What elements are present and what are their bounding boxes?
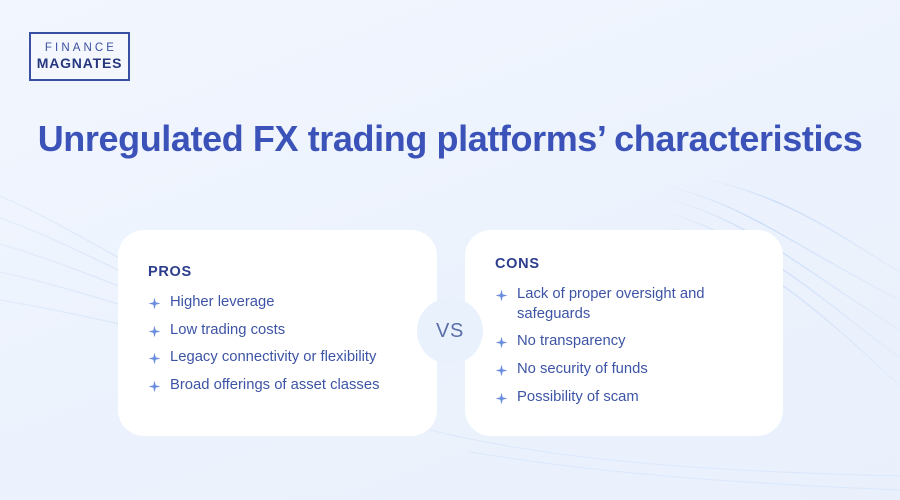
sparkle-icon (148, 325, 161, 338)
finance-magnates-logo: FINANCE MAGNATES (29, 32, 130, 81)
list-item: Possibility of scam (495, 388, 753, 408)
sparkle-icon (495, 336, 508, 349)
list-item: No transparency (495, 332, 753, 352)
list-item: Higher leverage (148, 293, 407, 313)
pros-card: PROS Higher leverage Low trading costs (118, 230, 437, 436)
sparkle-icon (495, 364, 508, 377)
sparkle-icon (148, 297, 161, 310)
sparkle-icon (148, 352, 161, 365)
list-item-label: No transparency (517, 332, 626, 352)
list-item: Lack of proper oversight and safeguards (495, 285, 753, 324)
pros-list: Higher leverage Low trading costs Legacy… (148, 293, 407, 396)
page-title: Unregulated FX trading platforms’ charac… (0, 118, 900, 160)
list-item-label: Possibility of scam (517, 388, 639, 408)
sparkle-icon (495, 289, 508, 302)
list-item: Broad offerings of asset classes (148, 376, 407, 396)
list-item: No security of funds (495, 360, 753, 380)
logo-line-magnates: MAGNATES (37, 55, 122, 71)
pros-heading: PROS (148, 264, 407, 280)
list-item-label: Higher leverage (170, 293, 274, 313)
cons-card: CONS Lack of proper oversight and safegu… (465, 230, 783, 436)
list-item-label: No security of funds (517, 360, 648, 380)
cons-heading: CONS (495, 256, 753, 272)
list-item-label: Legacy connectivity or flexibility (170, 348, 376, 368)
cons-list: Lack of proper oversight and safeguards … (495, 285, 753, 407)
sparkle-icon (495, 392, 508, 405)
list-item: Legacy connectivity or flexibility (148, 348, 407, 368)
vs-badge: VS (417, 298, 483, 364)
list-item-label: Broad offerings of asset classes (170, 376, 379, 396)
infographic-canvas: FINANCE MAGNATES Unregulated FX trading … (0, 0, 900, 500)
vs-label: VS (436, 320, 464, 343)
list-item-label: Low trading costs (170, 321, 285, 341)
logo-line-finance: FINANCE (42, 42, 117, 55)
list-item-label: Lack of proper oversight and safeguards (517, 285, 753, 324)
list-item: Low trading costs (148, 321, 407, 341)
sparkle-icon (148, 380, 161, 393)
